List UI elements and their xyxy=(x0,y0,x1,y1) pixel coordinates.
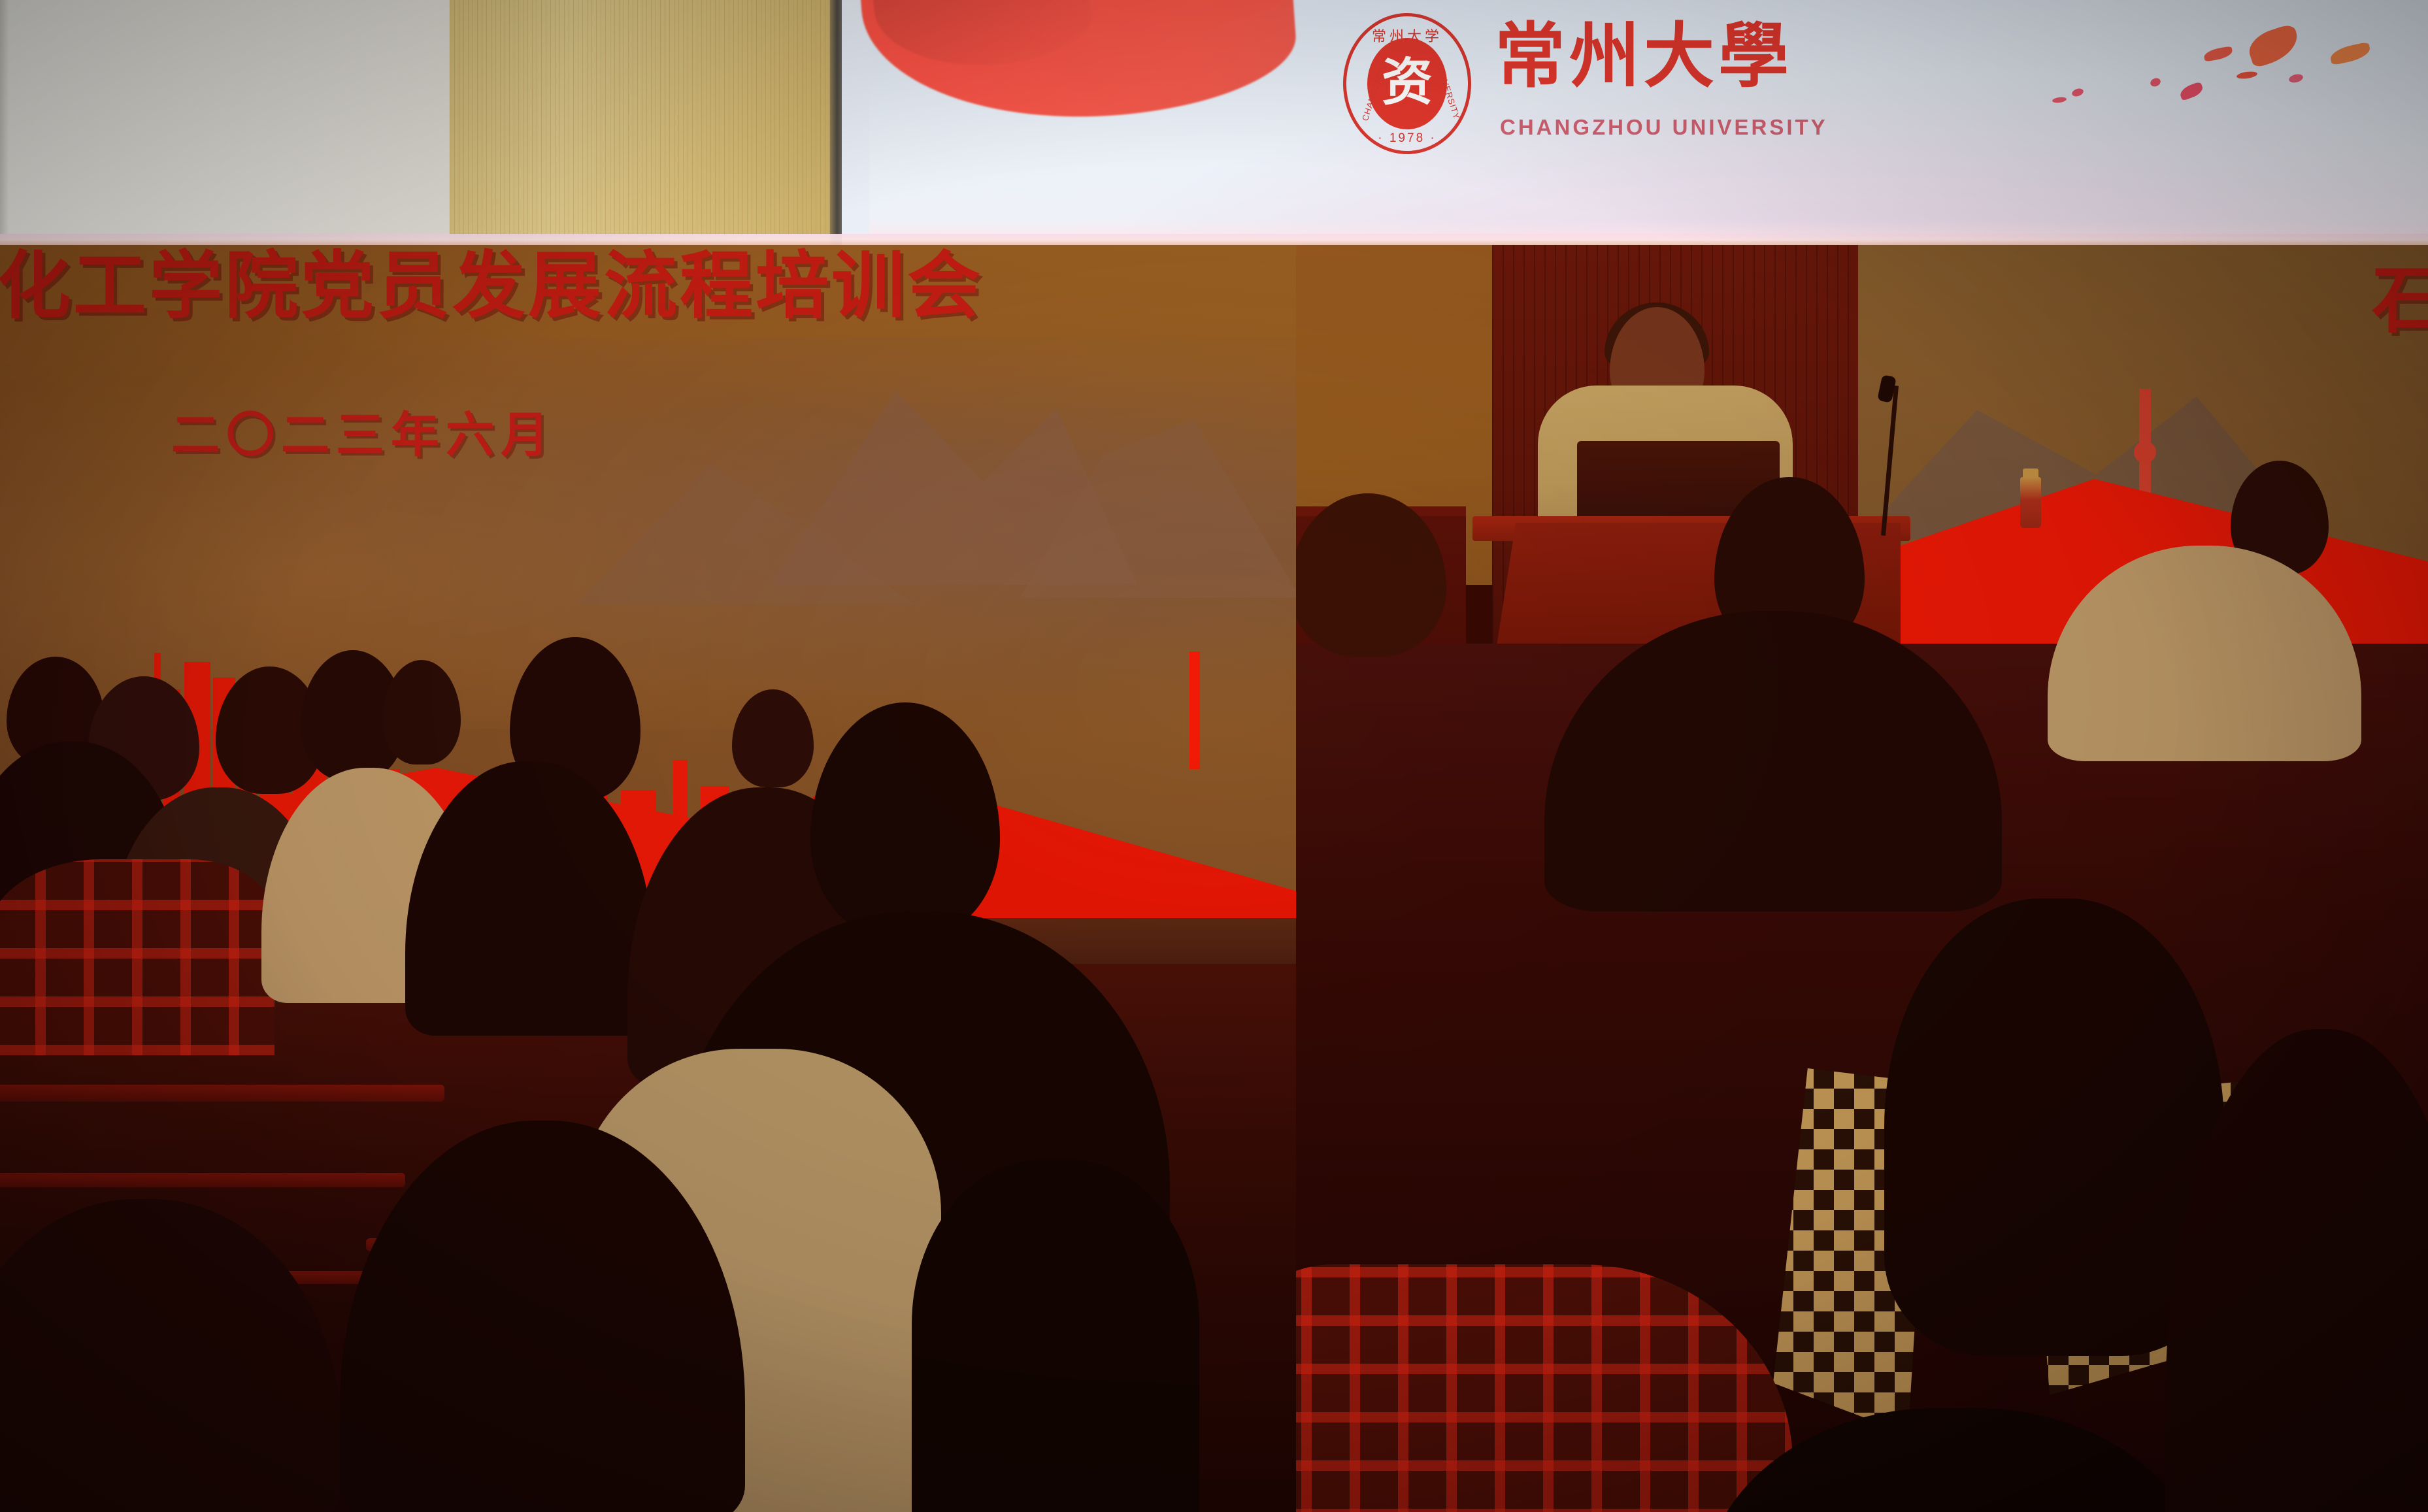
banner-fragment-text: 石 xyxy=(2372,245,2428,347)
screen-tower-knob xyxy=(2134,441,2156,463)
bottom-right-panel-speaker: 石 xyxy=(1296,245,2428,1512)
changzhou-university-logo: 常州大学 资 CHANGZHOU UNIVERSITY · 1978 · 常州大… xyxy=(1343,5,1814,156)
water-bottle-icon xyxy=(2020,477,2041,528)
university-name-en: CHANGZHOU UNIVERSITY xyxy=(1500,115,1828,140)
bird-icon xyxy=(2329,42,2372,65)
bird-icon xyxy=(2149,76,2161,88)
seat-rail xyxy=(0,1085,444,1102)
bird-icon xyxy=(2178,81,2204,101)
bird-icon xyxy=(2288,73,2304,84)
bird-icon xyxy=(2052,97,2067,104)
bird-icon xyxy=(2203,46,2233,61)
banner-date-text: 二〇二三年六月 xyxy=(171,412,556,460)
projection-screen: 常州大学 资 CHANGZHOU UNIVERSITY · 1978 · 常州大… xyxy=(869,0,2428,245)
seal-year-label: · 1978 · xyxy=(1378,131,1436,146)
banner-title-text: 油化工学院党员发展流程培训会 xyxy=(0,250,983,323)
flying-birds-icon xyxy=(2033,8,2412,139)
foreground-head-dark xyxy=(912,1160,1199,1512)
bird-icon xyxy=(2071,87,2085,97)
top-panel-projection-screen: 常州大学 资 CHANGZHOU UNIVERSITY · 1978 · 常州大… xyxy=(0,0,2428,245)
wall-surface xyxy=(0,0,451,245)
skyline-tower xyxy=(1189,651,1200,769)
screenshot-canvas: 常州大学 资 CHANGZHOU UNIVERSITY · 1978 · 常州大… xyxy=(0,0,2428,1512)
seal-glyph-label: 资 xyxy=(1382,57,1433,108)
bird-icon xyxy=(2244,23,2303,69)
university-name-cn: 常州大學 xyxy=(1495,22,1793,93)
seat-rail xyxy=(0,1173,405,1187)
university-seal-icon: 常州大学 资 CHANGZHOU UNIVERSITY · 1978 · xyxy=(1343,13,1471,154)
wood-column xyxy=(450,0,842,245)
bottom-left-panel-audience: 油化工学院党员发展流程培训会 二〇二三年六月 xyxy=(0,245,1296,1512)
audience-plaid-jacket xyxy=(0,859,274,1055)
bird-icon xyxy=(2236,71,2257,80)
